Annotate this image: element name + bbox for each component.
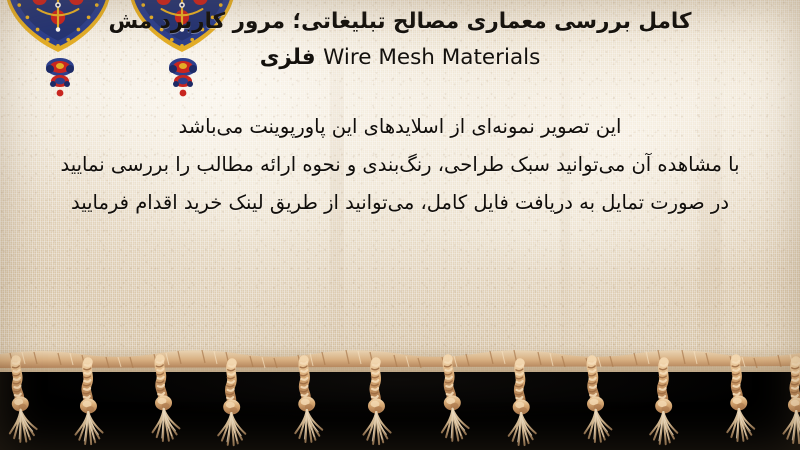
tassel — [726, 359, 754, 441]
body-line-1: این تصویر نمونه‌ای از اسلایدهای این پاور… — [30, 108, 770, 146]
fringe-cord-rail — [0, 350, 800, 368]
body-line-2: با مشاهده آن می‌توانید سبک طراحی، رنگ‌بن… — [30, 146, 770, 184]
slide-title-line-1: کامل بررسی معماری مصالح تبلیغاتی؛ مرور ک… — [6, 4, 794, 40]
tassel — [294, 360, 322, 442]
slide-title-persian-suffix: فلزی — [260, 45, 316, 70]
tassel — [150, 358, 180, 441]
tassel — [582, 359, 612, 442]
presentation-slide: کامل بررسی معماری مصالح تبلیغاتی؛ مرور ک… — [0, 0, 800, 450]
body-line-3: در صورت تمایل به دریافت فایل کامل، می‌تو… — [30, 184, 770, 222]
tassel — [218, 362, 249, 445]
carpet-tassel-fringe — [0, 340, 800, 450]
tassel — [6, 359, 37, 442]
tassel — [650, 361, 681, 444]
slide-body-text: این تصویر نمونه‌ای از اسلایدهای این پاور… — [0, 108, 800, 222]
tassel — [75, 362, 105, 445]
tassel — [363, 362, 393, 445]
slide-title: کامل بررسی معماری مصالح تبلیغاتی؛ مرور ک… — [0, 4, 800, 76]
tassel — [438, 358, 469, 441]
tassel — [783, 361, 800, 444]
fringe-tassel-row — [6, 358, 800, 446]
tassel — [509, 363, 537, 445]
slide-title-english: Wire Mesh Materials — [323, 45, 540, 70]
slide-title-line-2: Wire Mesh Materials فلزی — [6, 40, 794, 76]
